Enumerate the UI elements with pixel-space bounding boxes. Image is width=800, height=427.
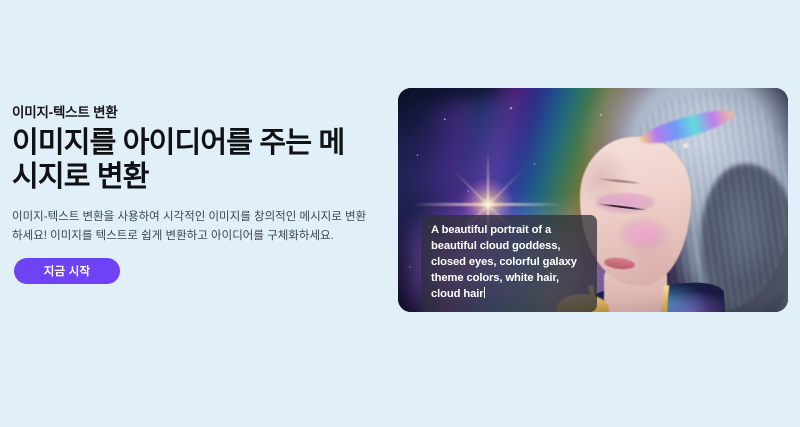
start-now-button[interactable]: 지금 시작 <box>14 258 120 284</box>
hero-image-card[interactable]: A beautiful portrait of a beautiful clou… <box>398 88 788 312</box>
prompt-text-overlay[interactable]: A beautiful portrait of a beautiful clou… <box>421 215 597 312</box>
page-title: 이미지를 아이디어를 주는 메시지로 변환 <box>12 126 362 194</box>
text-cursor-icon <box>484 287 485 298</box>
hero-section: 이미지-텍스트 변환 이미지를 아이디어를 주는 메시지로 변환 이미지-텍스트… <box>0 0 800 427</box>
cheek-glow <box>619 218 667 249</box>
prompt-text: A beautiful portrait of a beautiful clou… <box>431 224 580 300</box>
hero-eyebrow: 이미지-텍스트 변환 <box>12 104 374 122</box>
hero-subcopy: 이미지-텍스트 변환을 사용하여 시각적인 이미지를 창의적인 메시지로 변환하… <box>12 208 368 245</box>
hero-copy-column: 이미지-텍스트 변환 이미지를 아이디어를 주는 메시지로 변환 이미지-텍스트… <box>12 104 374 245</box>
sparkle-icon <box>682 142 689 149</box>
